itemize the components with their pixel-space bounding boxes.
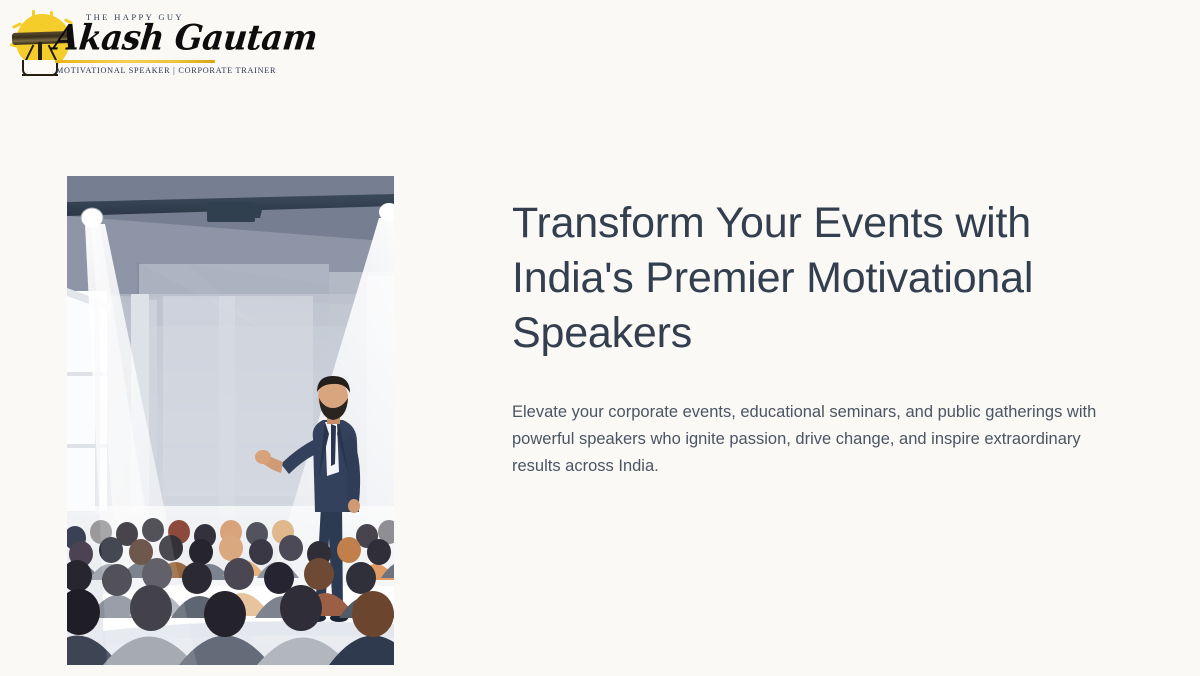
- hero-copy: Transform Your Events with India's Premi…: [512, 196, 1112, 480]
- hero-subtitle: Elevate your corporate events, education…: [512, 399, 1112, 480]
- logo-wordmark: THE HAPPY GUY Akash Gautam MOTIVATIONAL …: [54, 6, 218, 86]
- sun-ray-icon: [50, 11, 53, 18]
- emblem-base-line-icon: [22, 74, 58, 76]
- sun-ray-icon: [32, 10, 35, 18]
- hero-image: [67, 176, 394, 665]
- hero-title: Transform Your Events with India's Premi…: [512, 196, 1112, 361]
- site-header: THE HAPPY GUY Akash Gautam MOTIVATIONAL …: [0, 0, 1200, 96]
- conference-hall-speaker-illustration: [67, 176, 394, 665]
- logo-gold-rule: [55, 60, 215, 63]
- site-logo[interactable]: THE HAPPY GUY Akash Gautam MOTIVATIONAL …: [8, 4, 218, 88]
- logo-tagline: MOTIVATIONAL SPEAKER | CORPORATE TRAINER: [56, 66, 276, 75]
- emblem-stem-icon: [38, 42, 42, 62]
- logo-name: Akash Gautam: [52, 17, 319, 58]
- hero-section: Transform Your Events with India's Premi…: [0, 96, 1200, 676]
